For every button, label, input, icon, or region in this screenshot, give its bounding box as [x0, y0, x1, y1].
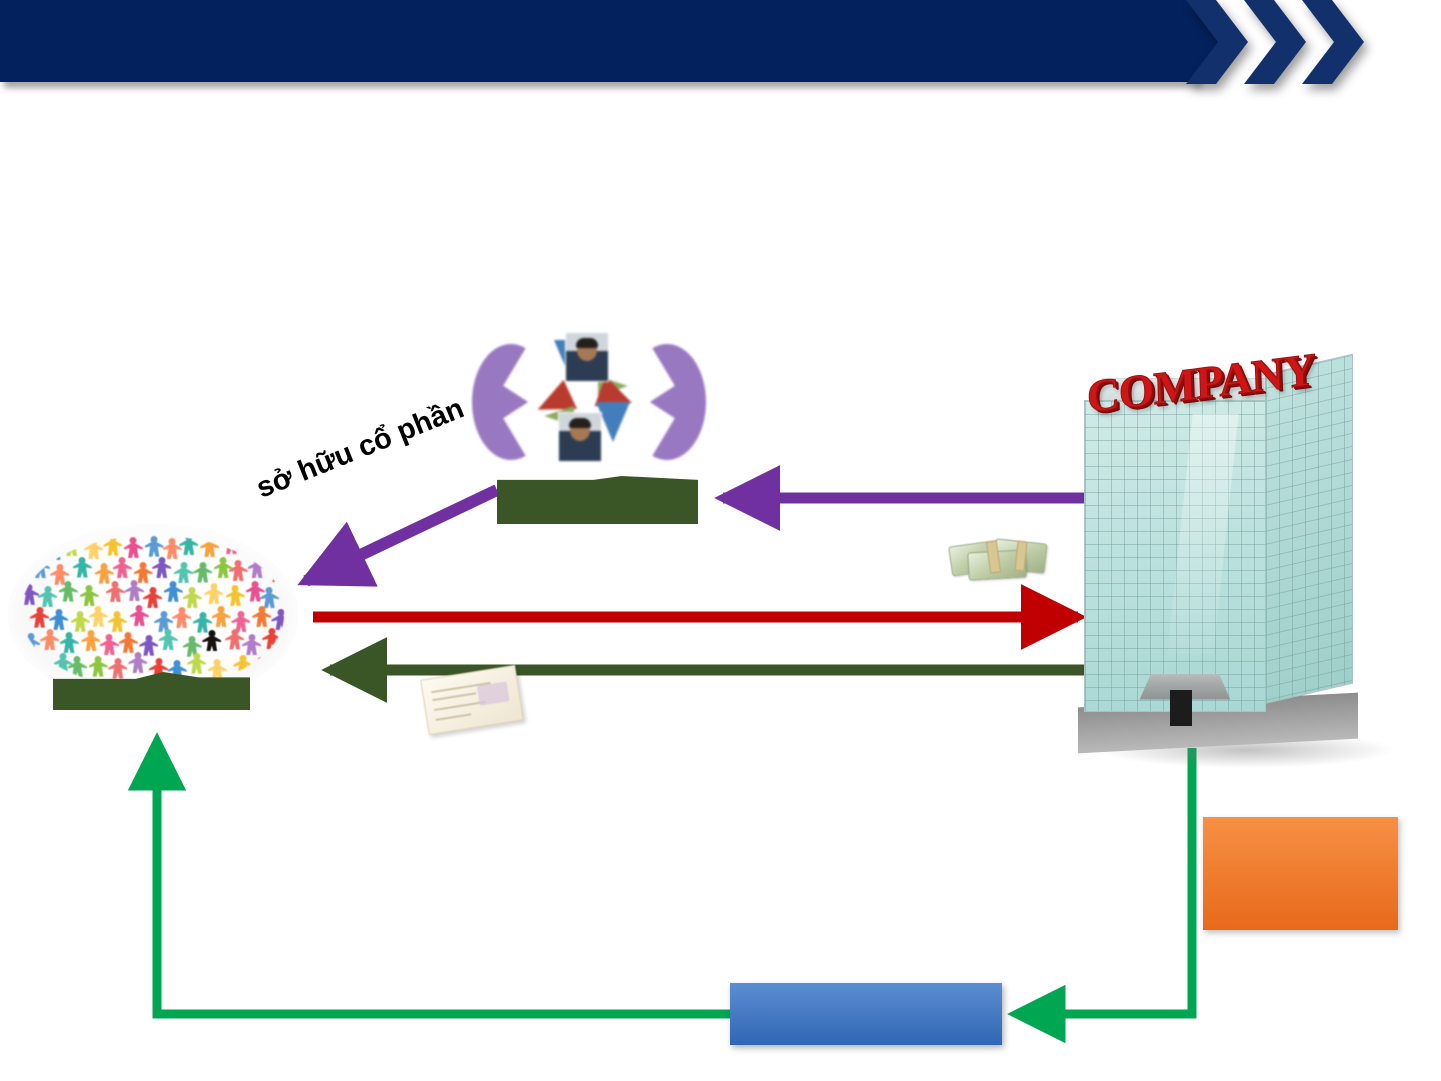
crowd-person — [172, 607, 191, 630]
crowd-person-head — [106, 634, 113, 641]
crowd-person-head — [199, 612, 206, 619]
crowd-person-head — [136, 605, 143, 612]
crowd-person-body — [274, 661, 284, 676]
crowd-person-body — [31, 666, 50, 681]
crowd-person-head — [208, 630, 215, 637]
crowd-person-head — [160, 611, 167, 618]
crowd-person-head — [268, 628, 275, 635]
crowd-person-head — [252, 581, 259, 588]
board-label-box — [497, 476, 698, 524]
crowd-person-body — [145, 542, 164, 557]
crowd-person-head — [27, 633, 34, 640]
blue-callout-box[interactable] — [730, 983, 1002, 1045]
crowd-person-head — [95, 656, 102, 663]
crowd-person-head — [170, 581, 177, 588]
crowd-person-head — [206, 536, 213, 543]
crowd-person — [80, 585, 99, 608]
crowd-person-body — [80, 591, 99, 606]
crowd-person-head — [125, 632, 132, 639]
crowd-person-body — [252, 612, 271, 627]
crowd-person-body — [268, 567, 284, 582]
crowd-person-head — [46, 629, 53, 636]
crowd-person-body — [241, 541, 260, 556]
crowd-person — [125, 580, 144, 603]
cash-bundle — [944, 529, 1056, 589]
crowd-person-head — [239, 655, 246, 662]
crowd-person-head — [37, 660, 44, 667]
crowd-person — [248, 557, 267, 580]
crowd-person-head — [79, 557, 86, 564]
crowd-person-head — [114, 611, 121, 618]
crowd-person-head — [119, 557, 126, 564]
crowd-person-head — [87, 630, 94, 637]
crowd-person-head — [193, 653, 200, 660]
crowd-person-head — [66, 632, 73, 639]
crowd-person — [60, 632, 79, 655]
crowd-person-body — [179, 540, 198, 555]
crowd-person-head — [277, 609, 284, 616]
crowd-person-head — [274, 561, 281, 568]
slide-canvas: sở hữu cổ phần COMPANY — [0, 0, 1441, 1081]
crowd-person — [222, 536, 241, 556]
crowd-person-head — [86, 585, 93, 592]
crowd-person-head — [140, 562, 147, 569]
crowd-person-head — [180, 562, 187, 569]
crowd-person-head — [169, 538, 176, 545]
crowd-person-head — [231, 629, 238, 636]
crowd-person-head — [44, 586, 51, 593]
crowd-person — [108, 658, 127, 681]
building-entrance-door — [1170, 690, 1192, 726]
crowd-person-head — [199, 562, 206, 569]
crowd-person — [233, 655, 252, 678]
crowd-person-body — [183, 593, 202, 608]
crowd-person-head — [189, 636, 196, 643]
crowd-person-body — [248, 563, 267, 578]
crowd-person-body — [62, 541, 81, 556]
crowd-person-body — [128, 658, 147, 673]
crowd-person-head — [210, 583, 217, 590]
orgchart-photo-top — [565, 332, 609, 382]
crowd-person — [268, 561, 284, 584]
crowd-person-body — [22, 639, 40, 654]
board-of-directors-orgchart — [470, 318, 708, 486]
company-to-blue-box-arrow — [1017, 748, 1192, 1014]
crowd-person — [212, 606, 231, 629]
crowd-person-head — [258, 657, 265, 664]
crowd-person-body — [212, 612, 231, 627]
crowd-person-head — [189, 587, 196, 594]
crowd-person — [22, 584, 39, 607]
crowd-person — [252, 606, 271, 629]
crowd-person-head — [258, 606, 265, 613]
crowd-person-head — [280, 655, 284, 662]
crowd-person-head — [145, 635, 152, 642]
crowd-person-body — [233, 661, 252, 676]
crowd-person-head — [52, 539, 59, 546]
crowd-person — [274, 655, 284, 678]
crowd-person-head — [131, 580, 138, 587]
crowd-person-body — [252, 663, 271, 678]
crowd-person-body — [119, 638, 138, 653]
crowd-person-body — [113, 563, 132, 578]
crowd-person-body — [262, 634, 281, 649]
building-front-facade — [1084, 400, 1266, 712]
crowd-person — [193, 562, 212, 585]
crowd-person — [262, 628, 281, 651]
orange-callout-box[interactable] — [1203, 817, 1398, 930]
crowd-person — [145, 536, 164, 559]
crowd-person — [100, 634, 119, 657]
crowd-person-body — [100, 640, 119, 655]
crowd-person-head — [55, 609, 62, 616]
crowd-person-head — [165, 629, 172, 636]
crowd-person — [252, 657, 271, 680]
crowd-person-body — [108, 664, 127, 679]
crowd-person-body — [22, 590, 39, 605]
crowd-person-body — [38, 592, 57, 607]
crowd-person-head — [37, 557, 44, 564]
certificate-line-4 — [436, 713, 472, 721]
crowd-person-body — [60, 638, 79, 653]
crowd-person — [73, 557, 92, 580]
company-building: COMPANY — [1060, 352, 1370, 772]
crowd-person-head — [218, 606, 225, 613]
crowd-person-head — [254, 557, 261, 564]
crowd-person-head — [36, 607, 43, 614]
crowd-person-body — [229, 566, 248, 581]
crowd-person-body — [202, 636, 221, 651]
crowd-person — [40, 629, 59, 652]
orgchart-photo-bottom — [558, 412, 602, 462]
crowd-person-body — [89, 612, 108, 627]
certificate-stamp — [477, 681, 510, 705]
crowd-person-body — [200, 542, 219, 557]
crowd-person — [22, 633, 40, 656]
crowd-person-head — [214, 659, 221, 666]
crowd-person-body — [59, 587, 78, 602]
crowd-person-body — [31, 563, 50, 578]
crowd-person-body — [125, 586, 144, 601]
crowd-person-body — [108, 617, 127, 632]
crowd-person — [200, 536, 219, 559]
crowd-person-body — [81, 636, 100, 651]
crowd-person — [31, 660, 50, 683]
crowd-person-head — [134, 652, 141, 659]
crowd-person-head — [130, 537, 137, 544]
crowd-person-body — [68, 662, 87, 677]
crowd-person-body — [130, 611, 149, 626]
crowd-person-head — [232, 585, 239, 592]
certificate-line-3 — [434, 701, 486, 711]
crowd-person-head — [28, 536, 35, 543]
crowd-person-head — [235, 560, 242, 567]
crowd-person-body — [22, 542, 41, 557]
crowd-person-body — [222, 539, 241, 554]
crowd-person-body — [172, 613, 191, 628]
crowd-person-body — [106, 587, 125, 602]
crowd-person-head — [56, 564, 63, 571]
crowd-person-head — [90, 538, 97, 545]
crowd-person-body — [242, 640, 261, 655]
crowd-person — [68, 656, 87, 679]
crowd-person-head — [59, 653, 66, 660]
crowd-person-body — [226, 591, 245, 606]
crowd-person-body — [187, 659, 206, 674]
crowd-person-body — [193, 568, 212, 583]
crowd-person-head — [155, 658, 162, 665]
crowd-person — [62, 536, 81, 558]
crowd-person — [179, 536, 198, 557]
crowd-person-head — [149, 587, 156, 594]
crowd-person — [22, 536, 41, 559]
crowd-person — [108, 611, 127, 634]
crowd-person-head — [174, 660, 181, 667]
crowd-person-body — [49, 615, 68, 630]
crowd-figures — [22, 536, 284, 688]
crowd-person-body — [30, 613, 49, 628]
crowd-person — [38, 586, 57, 609]
crowd-person — [187, 653, 206, 676]
crowd-person — [31, 557, 50, 580]
crowd-person-head — [74, 656, 81, 663]
crowd-person-head — [178, 607, 185, 614]
crowd-person-head — [101, 563, 108, 570]
crowd-person — [241, 536, 260, 558]
crowd-person — [103, 536, 122, 558]
crowd-person-body — [89, 662, 108, 677]
crowd-person-head — [77, 611, 84, 618]
crowd-person-head — [151, 536, 158, 543]
crowd-person-head — [114, 658, 121, 665]
crowd-person — [59, 581, 78, 604]
crowd-person-head — [248, 634, 255, 641]
crowd-person-body — [164, 587, 183, 602]
crowd-person-head — [237, 611, 244, 618]
crowd-person — [152, 557, 171, 580]
crowd-person-head — [220, 557, 227, 564]
crowd-person-head — [26, 584, 33, 591]
crowd-person — [159, 629, 178, 652]
crowd-person-body — [124, 543, 143, 558]
orgchart-lobe-right-icon — [628, 344, 706, 460]
crowd-person — [128, 652, 147, 675]
blue-box-to-shareholders-arrow — [157, 742, 730, 1014]
crowd-person — [30, 607, 49, 630]
crowd-person — [106, 581, 125, 604]
crowd-person — [202, 630, 221, 653]
crowd-person-body — [73, 563, 92, 578]
board-to-shareholders-arrow — [306, 490, 497, 581]
crowd-person — [226, 585, 245, 608]
crowd-person-head — [95, 606, 102, 613]
crowd-person-head — [265, 538, 272, 545]
crowd-person-head — [65, 581, 72, 588]
crowd-person-body — [103, 541, 122, 556]
crowd-person — [204, 583, 223, 606]
crowd-person-head — [158, 557, 165, 564]
crowd-person — [130, 605, 149, 628]
crowd-person — [81, 630, 100, 653]
crowd-person-head — [112, 581, 119, 588]
certificate-line-2 — [432, 692, 476, 701]
crowd-person — [113, 557, 132, 580]
crowd-person-head — [266, 587, 273, 594]
crowd-person-body — [152, 563, 171, 578]
crowd-person-body — [40, 635, 59, 650]
crowd-person-body — [204, 589, 223, 604]
crowd-person — [89, 606, 108, 629]
crowd-person — [164, 581, 183, 604]
crowd-person-body — [159, 635, 178, 650]
crowd-person — [89, 656, 108, 679]
